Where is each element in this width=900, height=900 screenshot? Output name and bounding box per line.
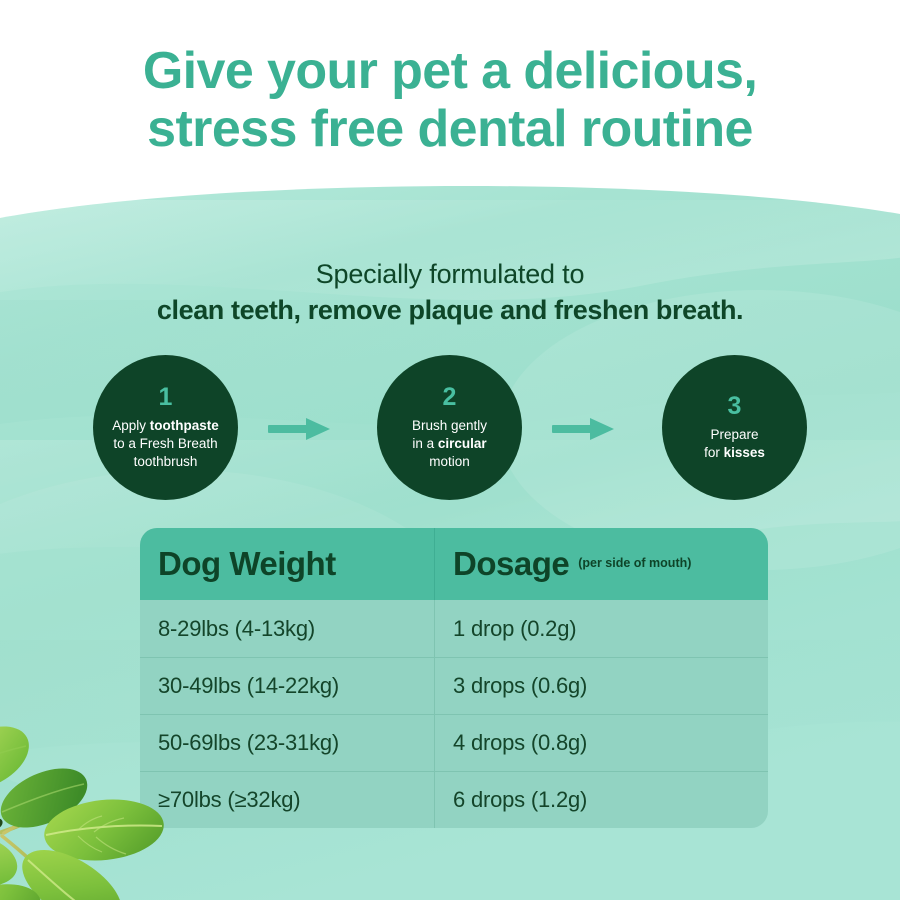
step-circle-2: 2 Brush gently in a circular motion — [377, 355, 522, 500]
table-row: 8-29lbs (4-13kg) 1 drop (0.2g) — [140, 600, 768, 657]
step-2-line2-pre: in a — [412, 436, 438, 451]
dosage-value: 4 drops (0.8g) — [453, 715, 768, 771]
table-header-dosage-label: Dosage — [453, 545, 569, 583]
subheading-line-2: clean teeth, remove plaque and freshen b… — [0, 293, 900, 327]
step-number-3: 3 — [728, 394, 742, 419]
step-3-line2-pre: for — [704, 445, 724, 460]
steps-row: 1 Apply toothpaste to a Fresh Breath too… — [0, 355, 900, 505]
step-circle-1: 1 Apply toothpaste to a Fresh Breath too… — [93, 355, 238, 500]
step-2-line3: motion — [429, 454, 470, 469]
step-text-2: Brush gently in a circular motion — [404, 417, 495, 471]
step-1-line2: to a Fresh Breath — [113, 436, 217, 451]
table-row: ≥70lbs (≥32kg) 6 drops (1.2g) — [140, 771, 768, 828]
step-number-1: 1 — [159, 385, 173, 410]
table-header-cell-weight: Dog Weight — [140, 528, 435, 600]
step-3-line1: Prepare — [710, 427, 758, 442]
arrow-step-2-to-3 — [552, 417, 614, 441]
table-cell-dosage: 1 drop (0.2g) — [435, 600, 768, 657]
step-2-line2-bold: circular — [438, 436, 487, 451]
step-1-line1-bold: toothpaste — [150, 418, 219, 433]
table-header-row: Dog Weight Dosage (per side of mouth) — [140, 528, 768, 600]
step-2-line1: Brush gently — [412, 418, 487, 433]
step-1-line3: toothbrush — [134, 454, 198, 469]
step-3-line2-bold: kisses — [724, 445, 765, 460]
dosage-value: 3 drops (0.6g) — [453, 658, 768, 714]
table-cell-dosage: 3 drops (0.6g) — [435, 658, 768, 714]
table-cell-weight: 8-29lbs (4-13kg) — [140, 600, 435, 657]
table-cell-dosage: 4 drops (0.8g) — [435, 715, 768, 771]
subheading: Specially formulated to clean teeth, rem… — [0, 258, 900, 327]
step-circle-3: 3 Prepare for kisses — [662, 355, 807, 500]
table-header-cell-dosage: Dosage (per side of mouth) — [435, 528, 768, 600]
step-text-1: Apply toothpaste to a Fresh Breath tooth… — [104, 417, 227, 471]
step-number-2: 2 — [443, 385, 457, 410]
weight-value: 8-29lbs (4-13kg) — [158, 600, 434, 657]
step-1-line1-pre: Apply — [112, 418, 150, 433]
table-cell-dosage: 6 drops (1.2g) — [435, 772, 768, 828]
dosage-table: Dog Weight Dosage (per side of mouth) 8-… — [140, 528, 768, 828]
arrow-step-1-to-2 — [268, 417, 330, 441]
table-header-weight-label: Dog Weight — [158, 545, 336, 583]
page-title: Give your pet a delicious, stress free d… — [0, 42, 900, 158]
dosage-value: 1 drop (0.2g) — [453, 600, 768, 657]
dosage-value: 6 drops (1.2g) — [453, 772, 768, 828]
infographic-page: Give your pet a delicious, stress free d… — [0, 0, 900, 900]
leaf-decoration-icon — [0, 700, 212, 900]
table-header-dosage-note: (per side of mouth) — [578, 556, 691, 573]
table-row: 50-69lbs (23-31kg) 4 drops (0.8g) — [140, 714, 768, 771]
table-row: 30-49lbs (14-22kg) 3 drops (0.6g) — [140, 657, 768, 714]
step-text-3: Prepare for kisses — [696, 426, 773, 462]
subheading-line-1: Specially formulated to — [0, 258, 900, 290]
